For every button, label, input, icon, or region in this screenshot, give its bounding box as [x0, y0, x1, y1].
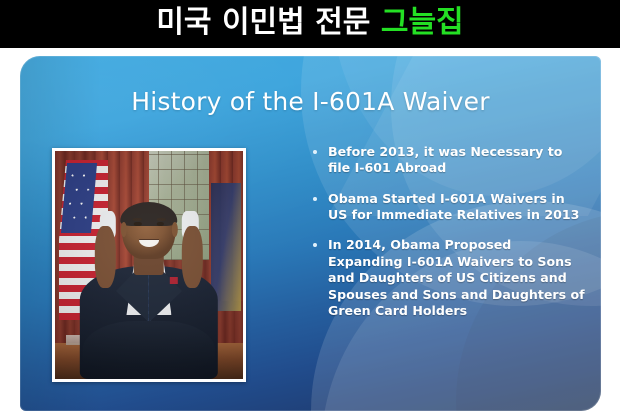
- figure-hand-left: [95, 226, 116, 288]
- banner-title: 미국 이민법 전문 그늘집: [156, 8, 463, 40]
- figure-crossed-arms: [83, 321, 215, 368]
- bullet-list: Before 2013, it was Necessary to file I-…: [310, 144, 585, 319]
- presentation-slide: History of the I-601A Waiver: [20, 56, 601, 411]
- figure-ear-right: [172, 222, 178, 237]
- portrait-photo-frame: [52, 148, 246, 382]
- figure-hand-right: [182, 226, 203, 288]
- banner-title-white: 미국 이민법 전문: [156, 5, 370, 40]
- figure-eye-right: [157, 222, 165, 226]
- portrait-photo: [55, 151, 243, 379]
- slide-title: History of the I-601A Waiver: [20, 87, 601, 116]
- list-item: Obama Started I-601A Waivers in US for I…: [310, 191, 585, 224]
- portrait-figure: [74, 197, 224, 379]
- figure-eye-left: [134, 222, 142, 226]
- flag-lapel-pin-icon: [170, 277, 178, 284]
- figure-ear-left: [120, 222, 126, 237]
- top-banner: 미국 이민법 전문 그늘집: [0, 0, 620, 48]
- figure-hair: [120, 202, 177, 226]
- list-item: Before 2013, it was Necessary to file I-…: [310, 144, 585, 177]
- slide-page: 미국 이민법 전문 그늘집 History of the I-601A Waiv…: [0, 0, 620, 420]
- banner-title-green: 그늘집: [381, 5, 464, 40]
- list-item: In 2014, Obama Proposed Expanding I-601A…: [310, 237, 585, 319]
